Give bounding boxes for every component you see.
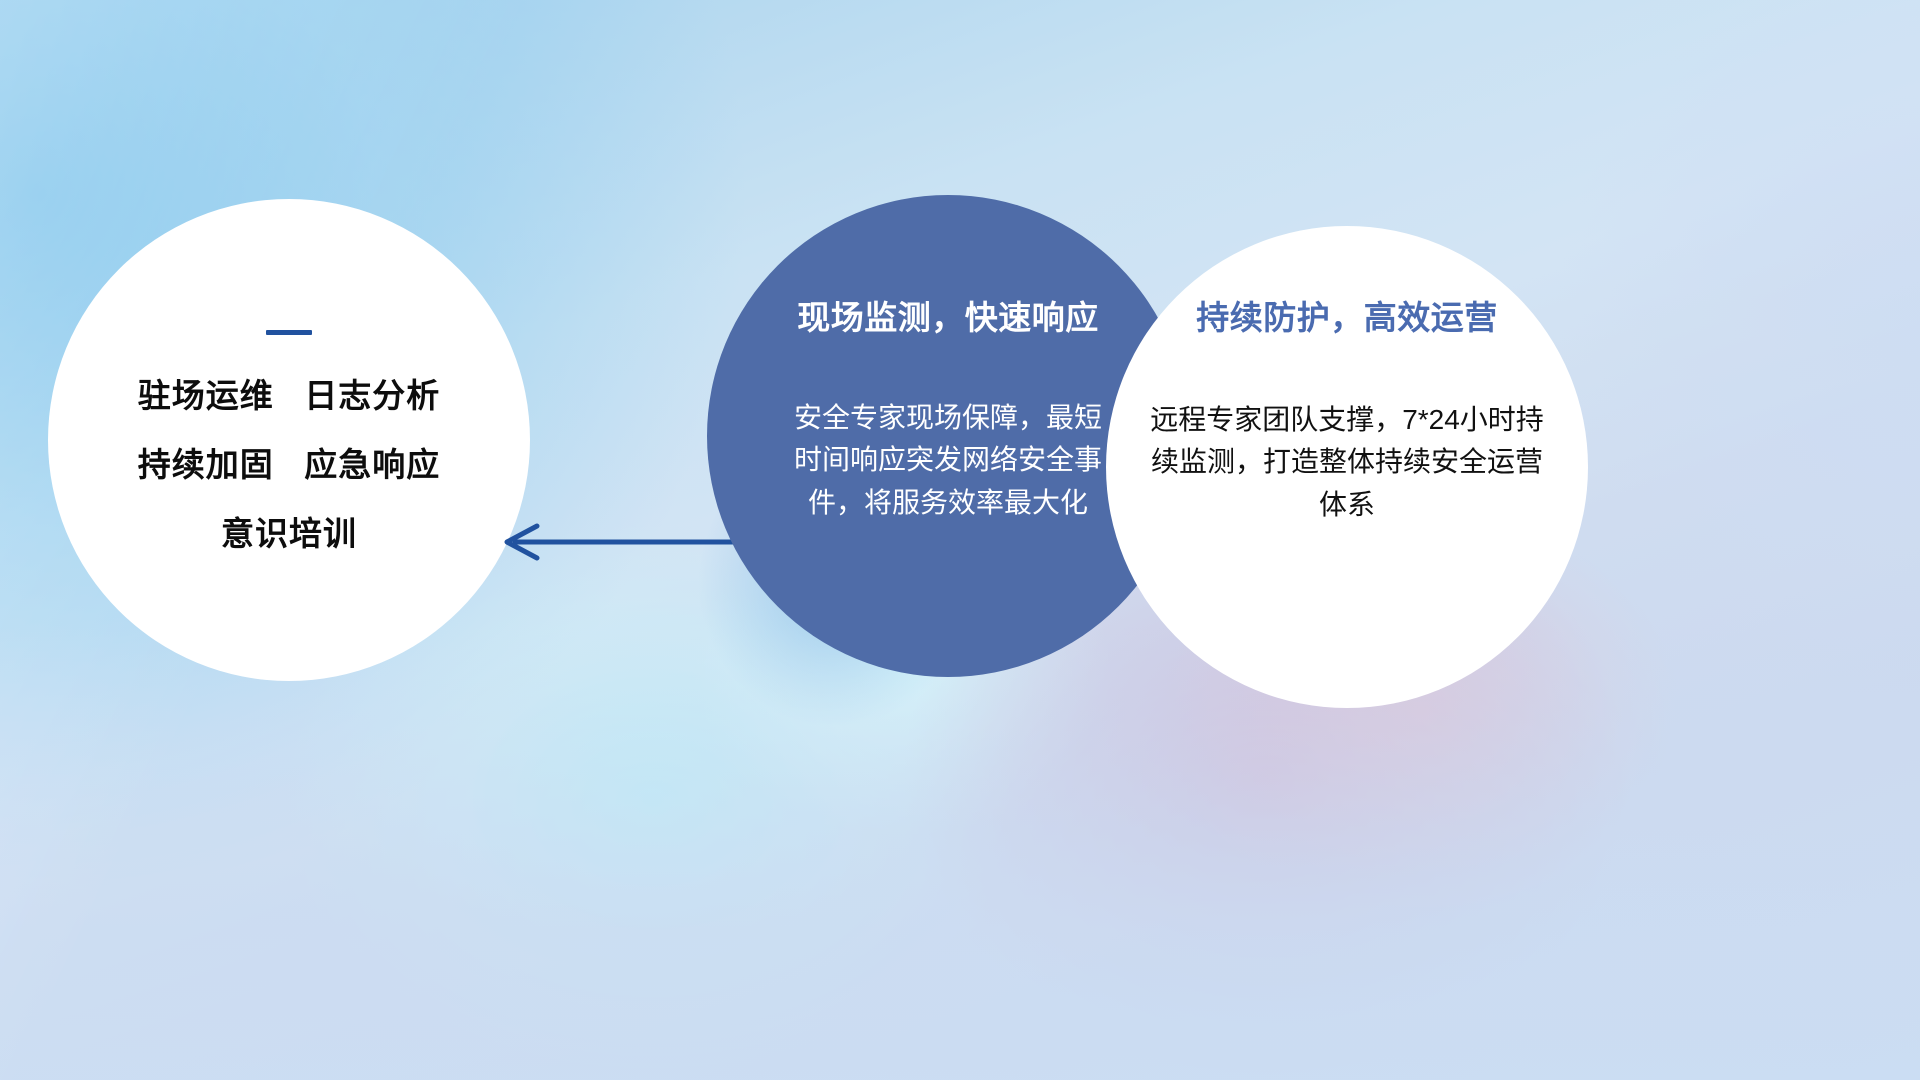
capability-line-1: 驻场运维 日志分析 [138,379,441,412]
capabilities-circle: 驻场运维 日志分析 持续加固 应急响应 意识培训 [48,199,530,681]
onsite-title: 现场监测，快速响应 [797,299,1099,337]
slide-canvas: 驻场运维 日志分析 持续加固 应急响应 意识培训 现场监测，快速响应 安全专家现… [0,0,1920,1080]
onsite-body: 安全专家现场保障，最短时间响应突发网络安全事件，将服务效率最大化 [785,397,1111,525]
remote-title: 持续防护，高效运营 [1196,299,1498,337]
capability-line-3: 意识培训 [221,517,357,550]
remote-body: 远程专家团队支撑，7*24小时持续监测，打造整体持续安全运营体系 [1147,399,1547,527]
remote-operations-circle: 持续防护，高效运营 远程专家团队支撑，7*24小时持续监测，打造整体持续安全运营… [1106,226,1588,708]
capability-line-2: 持续加固 应急响应 [138,448,441,481]
divider-dash-icon [266,330,312,335]
